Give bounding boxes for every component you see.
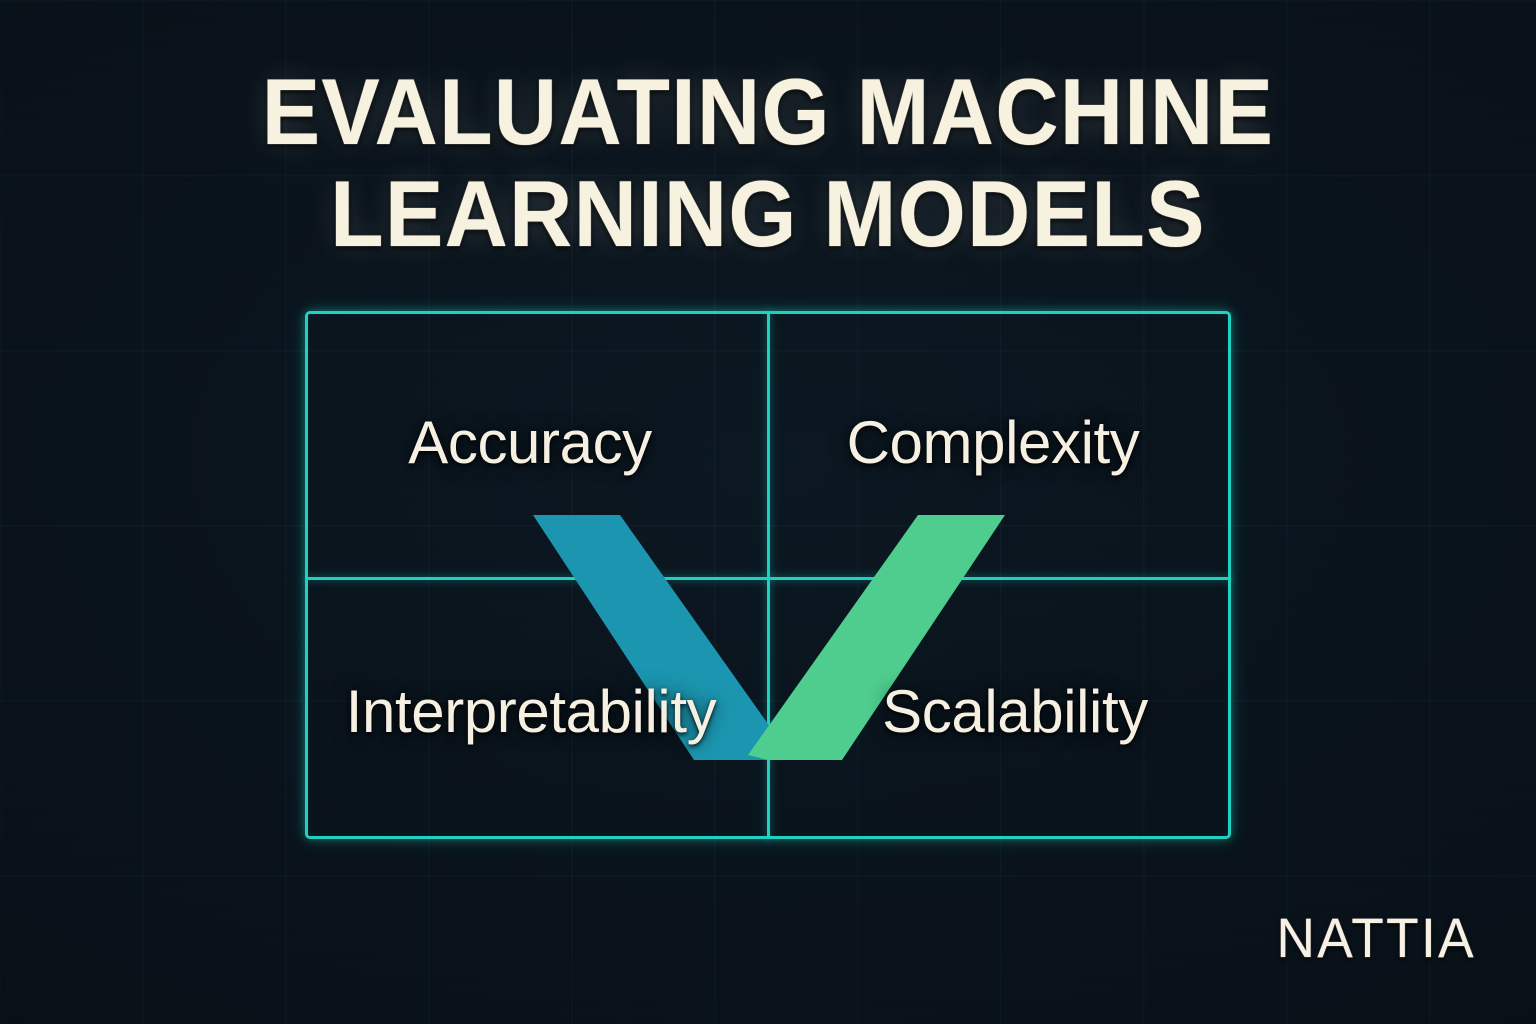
quadrant-label-accuracy: Accuracy xyxy=(408,413,652,473)
title-line-1: EVALUATING MACHINE xyxy=(54,64,1482,160)
title-line-2: LEARNING MODELS xyxy=(54,166,1482,262)
brand-wordmark: NATTIA xyxy=(1277,910,1476,966)
quadrant-divider-vertical xyxy=(767,311,770,839)
page-title: EVALUATING MACHINE LEARNING MODELS xyxy=(0,64,1536,262)
quadrant-label-scalability: Scalability xyxy=(882,682,1148,742)
quadrant-diagram xyxy=(305,311,1231,839)
quadrant-divider-horizontal xyxy=(305,577,1231,580)
poster-canvas: EVALUATING MACHINE LEARNING MODELS Accur… xyxy=(0,0,1536,1024)
quadrant-label-complexity: Complexity xyxy=(847,413,1140,473)
quadrant-label-interpretability: Interpretability xyxy=(346,682,716,742)
